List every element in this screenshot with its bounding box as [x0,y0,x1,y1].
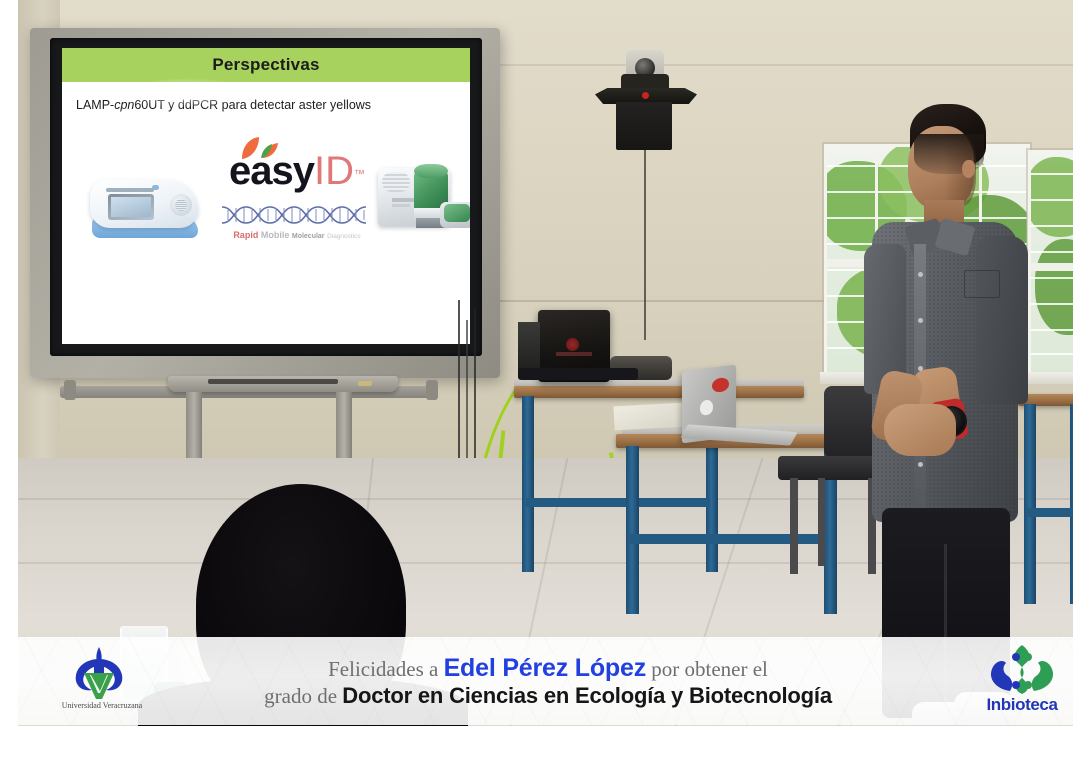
tagline-rapid: Rapid [233,230,258,240]
pen-slot [208,379,338,384]
presenter [858,104,1028,664]
slide-subtitle-post: 60UT y ddPCR para detectar aster yellows [134,98,371,112]
tagline-molecular: Molecular [292,233,325,240]
easyid-word-id: ID [314,152,354,190]
margin-left [0,0,18,760]
caption-text: Felicidades a Edel Pérez López por obten… [168,637,928,725]
equipment-table-rail [526,498,710,507]
inbioteca-logo: Inbioteca [970,643,1073,721]
presentation-photo: Perspectivas LAMP-cpn60UT y ddPCR para d… [18,0,1073,726]
camera-cable [644,150,646,340]
laptop-table-leg-left [626,446,639,614]
slide-subtitle-pre: LAMP- [76,98,114,112]
presenter-ear [962,160,975,178]
interactive-whiteboard[interactable]: Perspectivas LAMP-cpn60UT y ddPCR para d… [30,28,500,378]
polycom-wordmark [556,352,592,356]
margin-bottom [0,726,1090,760]
chair-leg-1 [790,478,798,574]
pen-tray[interactable] [168,376,398,392]
slide-title: Perspectivas [212,55,319,75]
camera-mount-body [616,102,672,150]
degree-title: Doctor en Ciencias en Ecología y Biotecn… [342,683,832,708]
shirt-button-1 [918,272,923,277]
screenshot-canvas: Perspectivas LAMP-cpn60UT y ddPCR para d… [0,0,1090,760]
uv-fleur-de-lis-icon [40,645,158,705]
display-bezel: Perspectivas LAMP-cpn60UT y ddPCR para d… [50,38,482,356]
window-far-right [1028,150,1073,378]
status-led-icon [358,381,372,386]
tagline-diagnostics: Diagnostics [327,233,361,240]
uv-logo-caption: Universidad Veracruzana [46,701,158,710]
dna-helix-icon [222,204,372,226]
universidad-veracruzana-logo: Universidad Veracruzana [40,645,158,719]
polycom-logo-icon [566,338,579,351]
benchtop-instrument-image [378,158,470,244]
presentation-slide: Perspectivas LAMP-cpn60UT y ddPCR para d… [62,48,470,344]
easyid-logo: easyID™ [222,152,372,190]
shirt-pocket [964,270,1000,298]
inbioteca-wordmark: Inbioteca [970,695,1073,715]
side-table-rail [1026,508,1073,517]
chair-leg-3 [818,478,825,566]
laptop-table-rail [630,534,828,544]
congratulations-banner: Universidad Veracruzana Felicidades a Ed… [18,637,1073,725]
shirt-sleeve-right [976,236,1028,404]
slide-title-band: Perspectivas [62,48,470,82]
trademark-icon: ™ [354,169,365,181]
handheld-analyzer-image [90,172,200,242]
shirt-button-2 [918,318,923,323]
margin-right [1073,0,1090,760]
camera-indicator-icon [642,92,649,99]
tagline-mobile: Mobile [261,230,290,240]
caption-line2-prefix: grado de [264,684,342,708]
caption-line-1: Felicidades a Edel Pérez López por obten… [328,654,768,682]
easyid-tagline: Rapid Mobile Molecular Diagnostics [222,230,372,240]
slide-subtitle: LAMP-cpn60UT y ddPCR para detectar aster… [76,98,371,112]
keyboard-device [518,368,638,380]
board-mount-right [426,380,438,400]
caption-line-2: grado de Doctor en Ciencias en Ecología … [264,684,832,709]
honoree-name: Edel Pérez López [444,654,646,682]
slide-subtitle-gene: cpn [114,98,134,112]
caption-line1-suffix: por obtener el [646,657,768,681]
equipment-table-top [514,386,804,398]
presenter-hands [884,404,956,456]
equipment-table-leg-left [522,396,534,572]
board-mount-left [64,380,76,400]
shirt-button-5 [918,462,923,467]
caption-line1-prefix: Felicidades a [328,657,443,681]
leaf-icon [240,136,280,162]
inbioteca-helix-leaf-icon [970,643,1073,697]
